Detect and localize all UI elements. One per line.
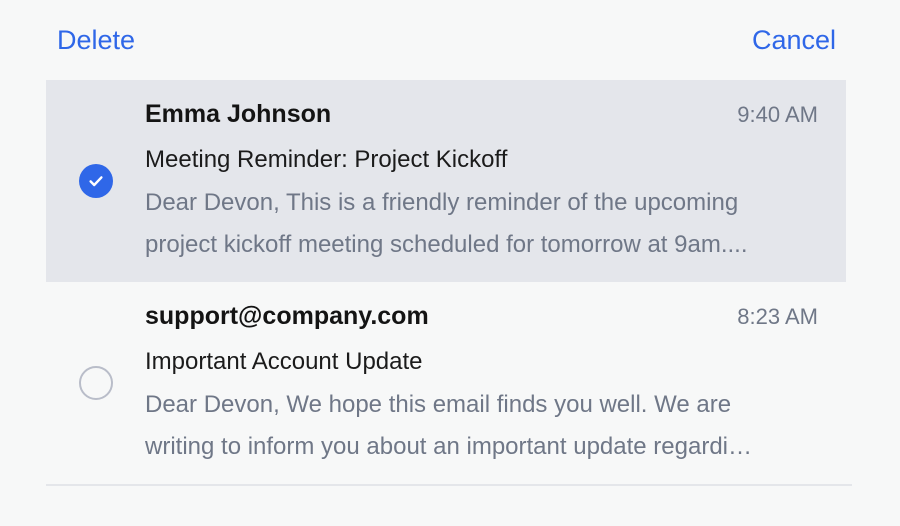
message-header-line: Emma Johnson 9:40 AM [145,97,818,132]
message-preview: Dear Devon, We hope this email finds you… [145,384,805,468]
message-preview: Dear Devon, This is a friendly reminder … [145,182,805,266]
cancel-button[interactable]: Cancel [752,22,836,58]
list-divider [46,484,852,486]
message-subject: Important Account Update [145,345,818,378]
message-content: support@company.com 8:23 AM Important Ac… [145,299,846,468]
action-toolbar: Delete Cancel [0,0,900,80]
message-sender: Emma Johnson [145,97,331,131]
delete-button[interactable]: Delete [57,22,135,58]
message-list-item[interactable]: Emma Johnson 9:40 AM Meeting Reminder: P… [46,80,846,282]
selection-control[interactable] [46,282,145,484]
selection-control[interactable] [46,80,145,282]
check-circle-filled-icon[interactable] [79,164,113,198]
message-sender: support@company.com [145,299,429,333]
message-header-line: support@company.com 8:23 AM [145,299,818,334]
message-timestamp: 8:23 AM [737,300,818,334]
circle-outline-icon[interactable] [79,366,113,400]
message-content: Emma Johnson 9:40 AM Meeting Reminder: P… [145,97,846,266]
message-timestamp: 9:40 AM [737,98,818,132]
message-subject: Meeting Reminder: Project Kickoff [145,143,818,176]
message-list-item[interactable]: support@company.com 8:23 AM Important Ac… [46,282,846,484]
message-list: Emma Johnson 9:40 AM Meeting Reminder: P… [0,80,900,486]
